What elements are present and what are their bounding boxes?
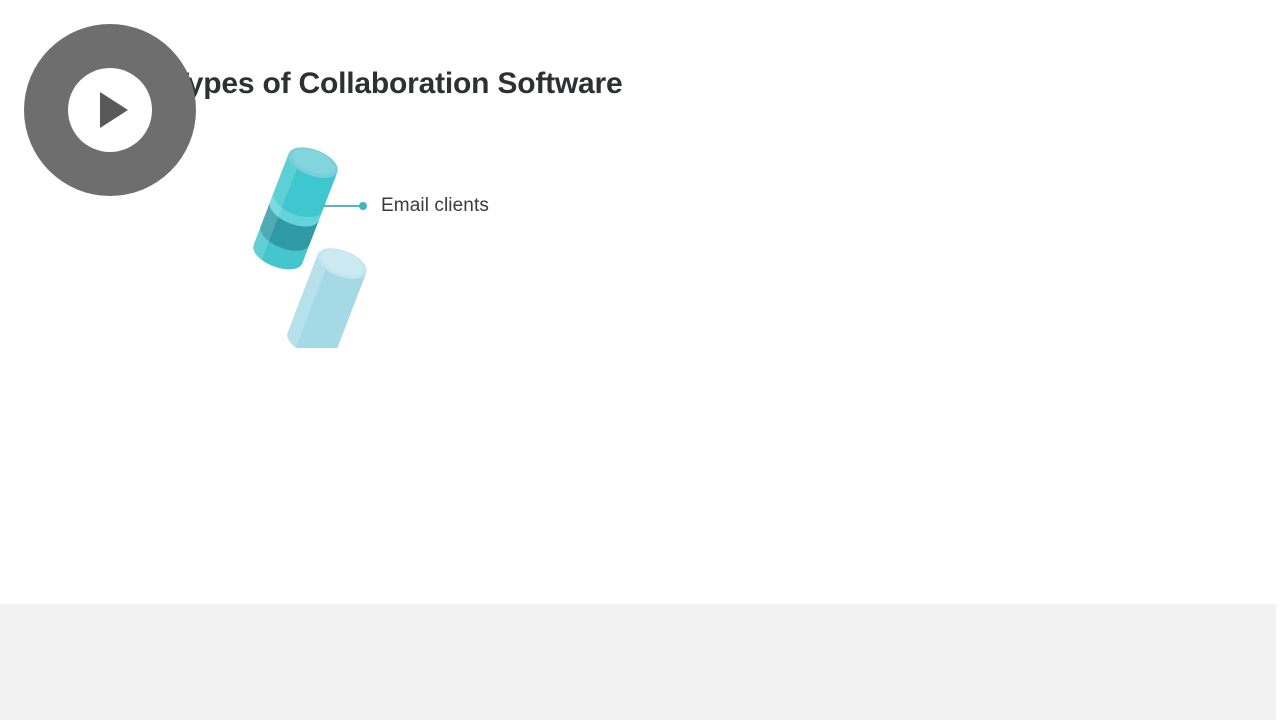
callout-leader-line <box>320 205 360 207</box>
play-button[interactable] <box>24 24 196 196</box>
callout-email-clients[interactable]: Email clients <box>320 193 489 219</box>
stacked-cylinder-chart-icon <box>228 128 408 348</box>
slide-canvas: Email clients Typical Types of Collabora… <box>0 0 1280 720</box>
play-button-inner-circle <box>68 68 152 152</box>
callout-dot-icon <box>359 202 367 210</box>
footer-band <box>0 604 1276 720</box>
play-icon <box>100 92 128 128</box>
callout-label-text: Email clients <box>381 195 489 217</box>
